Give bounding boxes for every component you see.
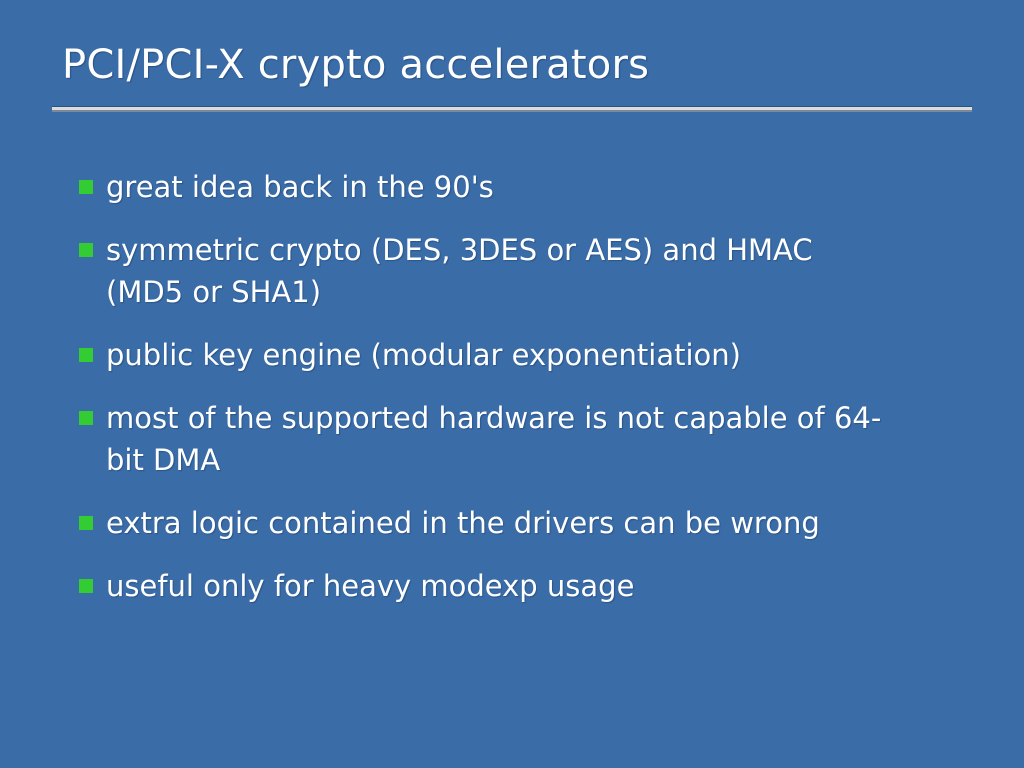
list-item: public key engine (modular exponentiatio… <box>79 334 959 376</box>
square-bullet-icon <box>79 579 93 593</box>
title-divider <box>52 106 972 112</box>
list-item-label: most of the supported hardware is not ca… <box>106 397 896 481</box>
list-item-label: great idea back in the 90's <box>106 166 906 208</box>
list-item: great idea back in the 90's <box>79 166 959 208</box>
square-bullet-icon <box>79 243 93 257</box>
slide-title-block: PCI/PCI-X crypto accelerators <box>52 40 972 90</box>
list-item: extra logic contained in the drivers can… <box>79 502 959 544</box>
list-item-label: useful only for heavy modexp usage <box>106 565 906 607</box>
list-item: most of the supported hardware is not ca… <box>79 397 959 481</box>
square-bullet-icon <box>79 516 93 530</box>
list-item-label: public key engine (modular exponentiatio… <box>106 334 906 376</box>
square-bullet-icon <box>79 411 93 425</box>
list-item-label: symmetric crypto (DES, 3DES or AES) and … <box>106 229 896 313</box>
list-item: symmetric crypto (DES, 3DES or AES) and … <box>79 229 959 313</box>
title-divider-shadow <box>52 110 972 112</box>
presentation-slide: PCI/PCI-X crypto accelerators great idea… <box>0 0 1024 768</box>
bullet-list: great idea back in the 90's symmetric cr… <box>79 166 959 628</box>
list-item: useful only for heavy modexp usage <box>79 565 959 607</box>
square-bullet-icon <box>79 180 93 194</box>
square-bullet-icon <box>79 348 93 362</box>
page-title: PCI/PCI-X crypto accelerators <box>52 40 972 90</box>
list-item-label: extra logic contained in the drivers can… <box>106 502 906 544</box>
